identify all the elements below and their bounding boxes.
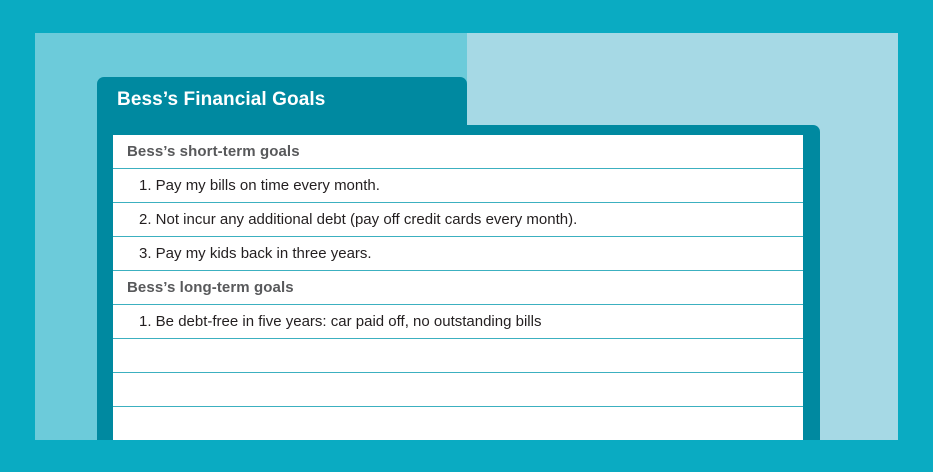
section-header-label: Bess’s long-term goals: [113, 279, 294, 296]
goal-row-blank: [113, 407, 803, 440]
goal-row: 2. Not incur any additional debt (pay of…: [113, 203, 803, 237]
folder-tab: Bess’s Financial Goals: [97, 77, 467, 129]
goal-text: 2. Not incur any additional debt (pay of…: [113, 211, 577, 228]
goal-row: 1. Be debt-free in five years: car paid …: [113, 305, 803, 339]
goals-section-header: Bess’s short-term goals: [113, 135, 803, 169]
goal-row-blank: [113, 339, 803, 373]
goal-row: 1. Pay my bills on time every month.: [113, 169, 803, 203]
goal-text: 3. Pay my kids back in three years.: [113, 245, 372, 262]
page-title: Bess’s Financial Goals: [117, 89, 325, 111]
goal-row: 3. Pay my kids back in three years.: [113, 237, 803, 271]
goal-text: 1. Be debt-free in five years: car paid …: [113, 313, 541, 330]
goal-row-blank: [113, 373, 803, 407]
goals-section-header: Bess’s long-term goals: [113, 271, 803, 305]
worksheet-graphic: Bess’s Financial Goals Bess’s short-term…: [0, 0, 933, 472]
goals-table: Bess’s short-term goals1. Pay my bills o…: [113, 135, 803, 440]
goal-text: 1. Pay my bills on time every month.: [113, 177, 380, 194]
section-header-label: Bess’s short-term goals: [113, 143, 300, 160]
